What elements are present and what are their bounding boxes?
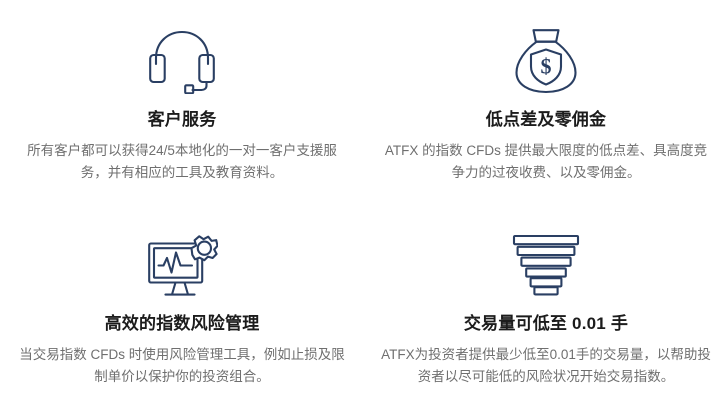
monitor-chart-gear-icon	[146, 226, 218, 304]
feature-card-lot-size: 交易量可低至 0.01 手 ATFX为投资者提供最少低至0.01手的交易量，以帮…	[364, 206, 728, 413]
feature-card-customer-service: 客户服务 所有客户都可以获得24/5本地化的一对一客户支援服务，并有相应的工具及…	[0, 0, 364, 206]
funnel-bars-icon	[512, 226, 580, 304]
feature-title: 客户服务	[148, 110, 217, 130]
svg-text:$: $	[541, 54, 552, 79]
feature-title: 低点差及零佣金	[486, 110, 606, 130]
features-grid: 客户服务 所有客户都可以获得24/5本地化的一对一客户支援服务，并有相应的工具及…	[0, 0, 728, 413]
headset-icon	[145, 22, 219, 100]
feature-description: ATFX为投资者提供最少低至0.01手的交易量，以帮助投资者以尽可能低的风险状况…	[381, 344, 711, 388]
feature-description: 所有客户都可以获得24/5本地化的一对一客户支援服务，并有相应的工具及教育资料。	[17, 140, 347, 184]
feature-card-low-spreads: $ 低点差及零佣金 ATFX 的指数 CFDs 提供最大限度的低点差、具高度竞争…	[364, 0, 728, 206]
feature-title: 高效的指数风险管理	[105, 314, 260, 334]
feature-description: 当交易指数 CFDs 时使用风险管理工具，例如止损及限制单价以保护你的投资组合。	[17, 344, 347, 388]
feature-description: ATFX 的指数 CFDs 提供最大限度的低点差、具高度竞争力的过夜收费、以及零…	[381, 140, 711, 184]
feature-title: 交易量可低至 0.01 手	[464, 314, 628, 334]
feature-card-risk-management: 高效的指数风险管理 当交易指数 CFDs 时使用风险管理工具，例如止损及限制单价…	[0, 206, 364, 413]
money-bag-shield-icon: $	[513, 22, 579, 100]
